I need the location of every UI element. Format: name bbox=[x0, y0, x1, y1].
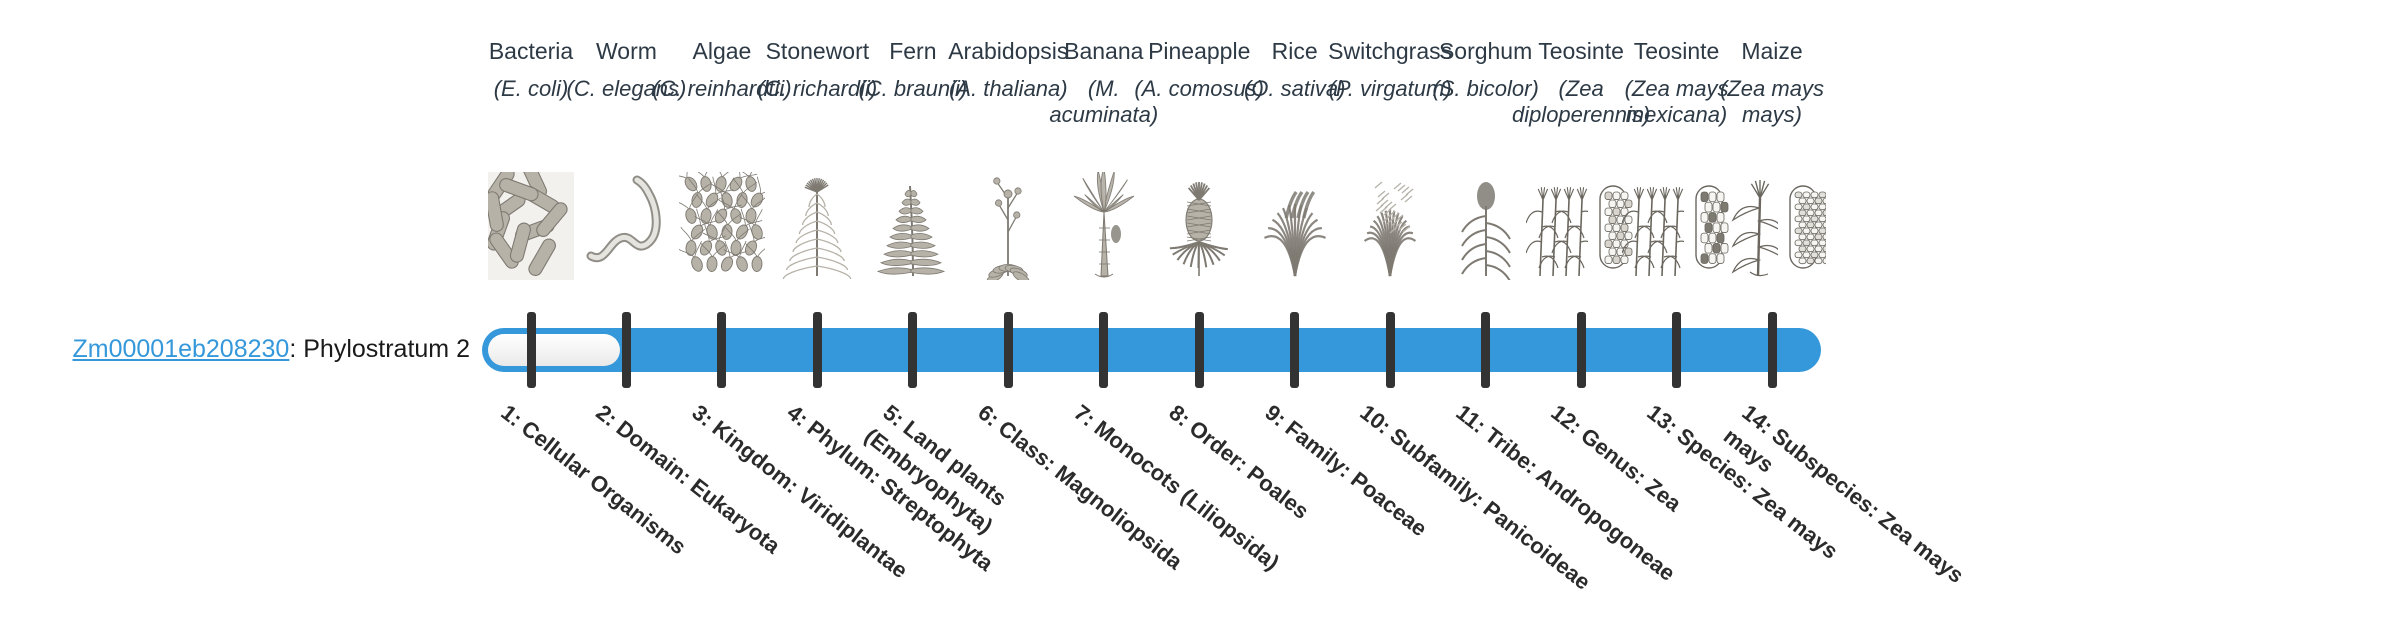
maize-illustration bbox=[1712, 168, 1832, 280]
phylostratum-tick-7[interactable] bbox=[1099, 312, 1108, 388]
phylostratum-tick-9[interactable] bbox=[1290, 312, 1299, 388]
phylostratum-tick-1[interactable] bbox=[527, 312, 536, 388]
phylostratum-tick-12[interactable] bbox=[1577, 312, 1586, 388]
phylostratum-tick-8[interactable] bbox=[1195, 312, 1204, 388]
species-common-name: Algae bbox=[693, 36, 752, 66]
phylostratum-tick-11[interactable] bbox=[1481, 312, 1490, 388]
gene-phylostratum-label: Zm00001eb208230: Phylostratum 2 bbox=[30, 334, 470, 364]
gene-label-separator: : bbox=[289, 335, 303, 363]
phylostratum-bar-track[interactable] bbox=[482, 328, 1821, 372]
species-common-name: Fern bbox=[889, 36, 936, 66]
phylostratum-bar-unfilled-segment bbox=[488, 334, 620, 366]
species-common-name: Maize bbox=[1741, 36, 1802, 66]
phylostratigraphy-widget: Zm00001eb208230: Phylostratum 2 Bacteria… bbox=[0, 0, 2400, 580]
phylostratum-tick-5[interactable] bbox=[908, 312, 917, 388]
phylostratum-tick-13[interactable] bbox=[1672, 312, 1681, 388]
species-common-name: Worm bbox=[596, 36, 657, 66]
phylostratum-tick-4[interactable] bbox=[813, 312, 822, 388]
phylostratum-tick-14[interactable] bbox=[1768, 312, 1777, 388]
phylostratum-tick-2[interactable] bbox=[622, 312, 631, 388]
phylostratum-tick-10[interactable] bbox=[1386, 312, 1395, 388]
species-scientific-name: (Zea mays mays) bbox=[1702, 76, 1842, 128]
gene-id-link[interactable]: Zm00001eb208230 bbox=[72, 335, 289, 363]
species-column-maize-13: Maize(Zea mays mays) bbox=[1703, 0, 1841, 320]
phylostratum-value-text: Phylostratum 2 bbox=[303, 335, 470, 363]
species-common-name: Rice bbox=[1272, 36, 1318, 66]
phylostratum-tick-3[interactable] bbox=[717, 312, 726, 388]
species-columns: Bacteria(E. coli)Worm(C. elegans)Algae(C… bbox=[468, 0, 2400, 580]
phylostratum-tick-6[interactable] bbox=[1004, 312, 1013, 388]
